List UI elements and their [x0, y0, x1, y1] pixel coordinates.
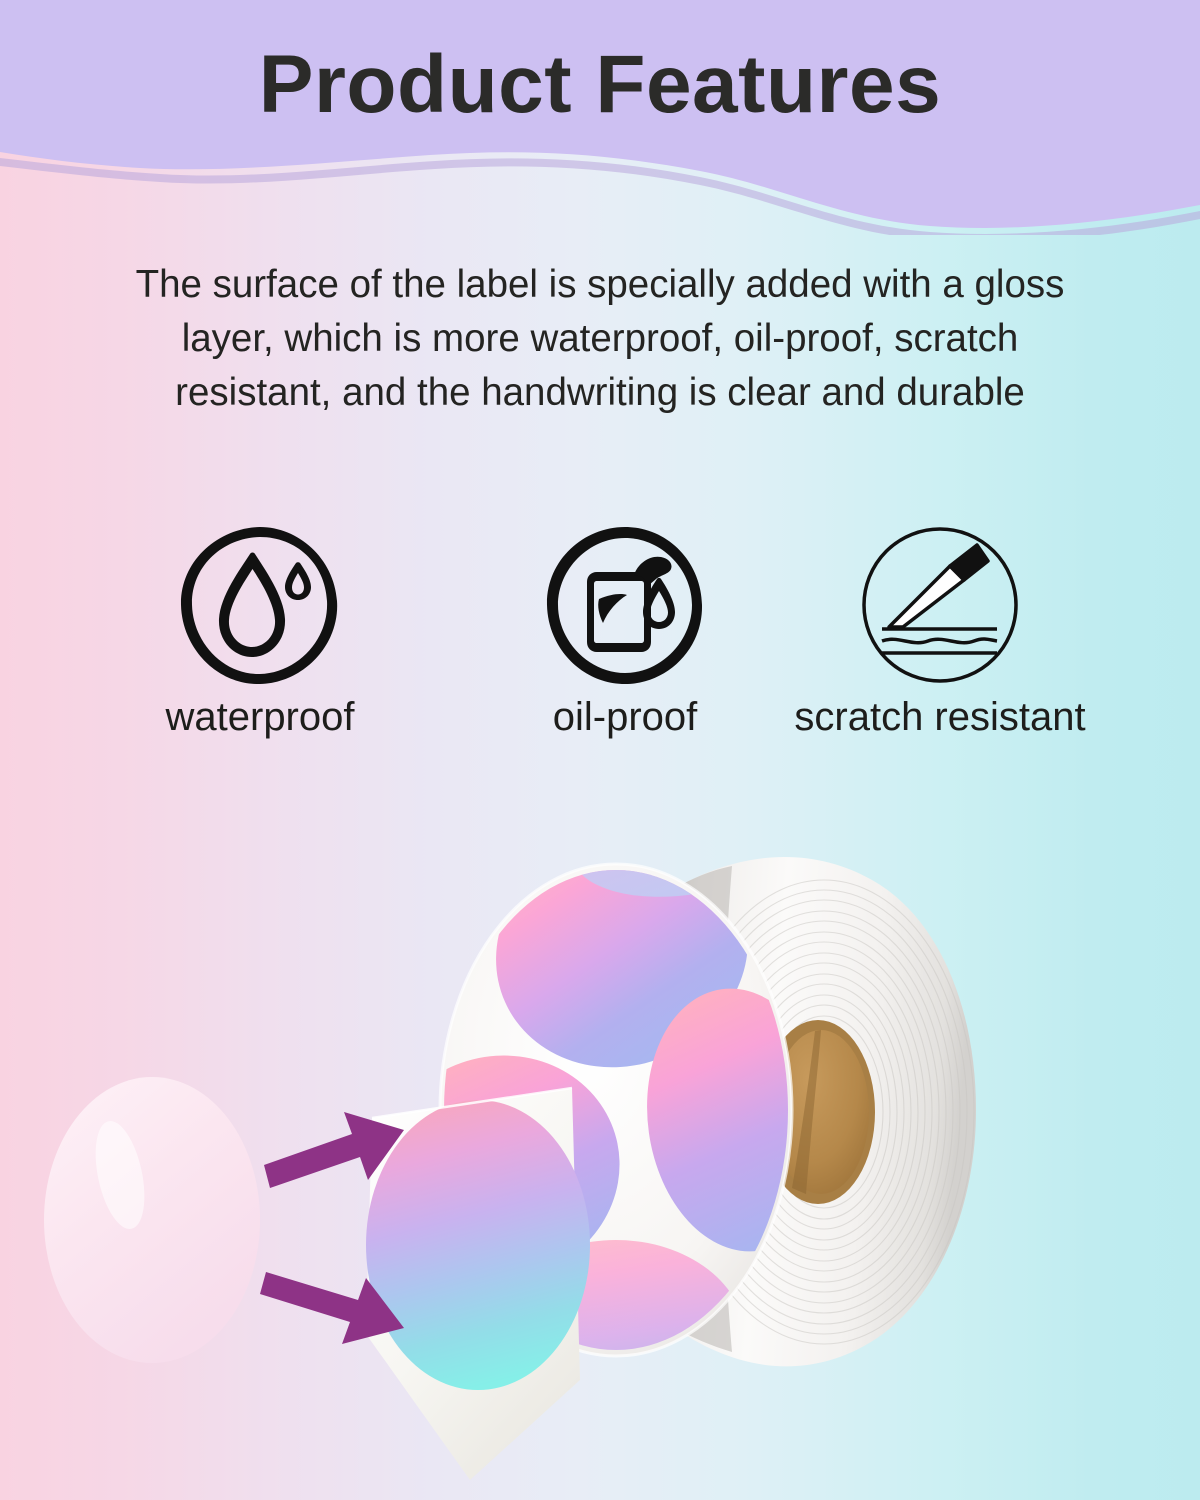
feature-item-waterproof: waterproof — [90, 520, 430, 744]
product-description: The surface of the label is specially ad… — [100, 258, 1100, 420]
waterproof-circle-outline — [181, 527, 337, 684]
feature-item-oil-proof: oil-proof — [500, 520, 750, 744]
feature-label-waterproof: waterproof — [90, 690, 430, 744]
page-title: Product Features — [0, 38, 1200, 132]
scratch-circle-outline — [864, 529, 1016, 681]
knife-scratch-surface-in-circle-icon — [854, 519, 1026, 691]
front-label-on-backing — [366, 1088, 590, 1480]
oilproof-icon-wrap — [500, 520, 750, 690]
feature-label-oil-proof: oil-proof — [500, 690, 750, 744]
oil-can-drip-in-circle-icon — [537, 517, 713, 693]
waterproof-icon-wrap — [90, 520, 430, 690]
feature-list: waterproof oil-proof — [90, 520, 1120, 780]
scratch-line-wavy — [882, 639, 997, 643]
blank-sticker — [44, 1077, 260, 1363]
feature-item-scratch-resistant: scratch resistant — [745, 520, 1135, 744]
product-features-page: Product Features The surface of the labe… — [0, 0, 1200, 1500]
oilproof-leaf-mark — [598, 594, 627, 623]
waterproof-large-drop — [219, 553, 285, 658]
oilproof-circle-outline — [547, 527, 702, 684]
product-photo — [0, 820, 1200, 1500]
scratch-knife-blade — [889, 566, 964, 627]
scratch-icon-wrap — [745, 520, 1135, 690]
front-sticker — [366, 1100, 590, 1390]
oilproof-can-body — [587, 572, 651, 652]
water-drop-in-circle-icon — [172, 517, 348, 693]
waterproof-small-drop — [285, 562, 311, 600]
feature-label-scratch-resistant: scratch resistant — [745, 690, 1135, 744]
